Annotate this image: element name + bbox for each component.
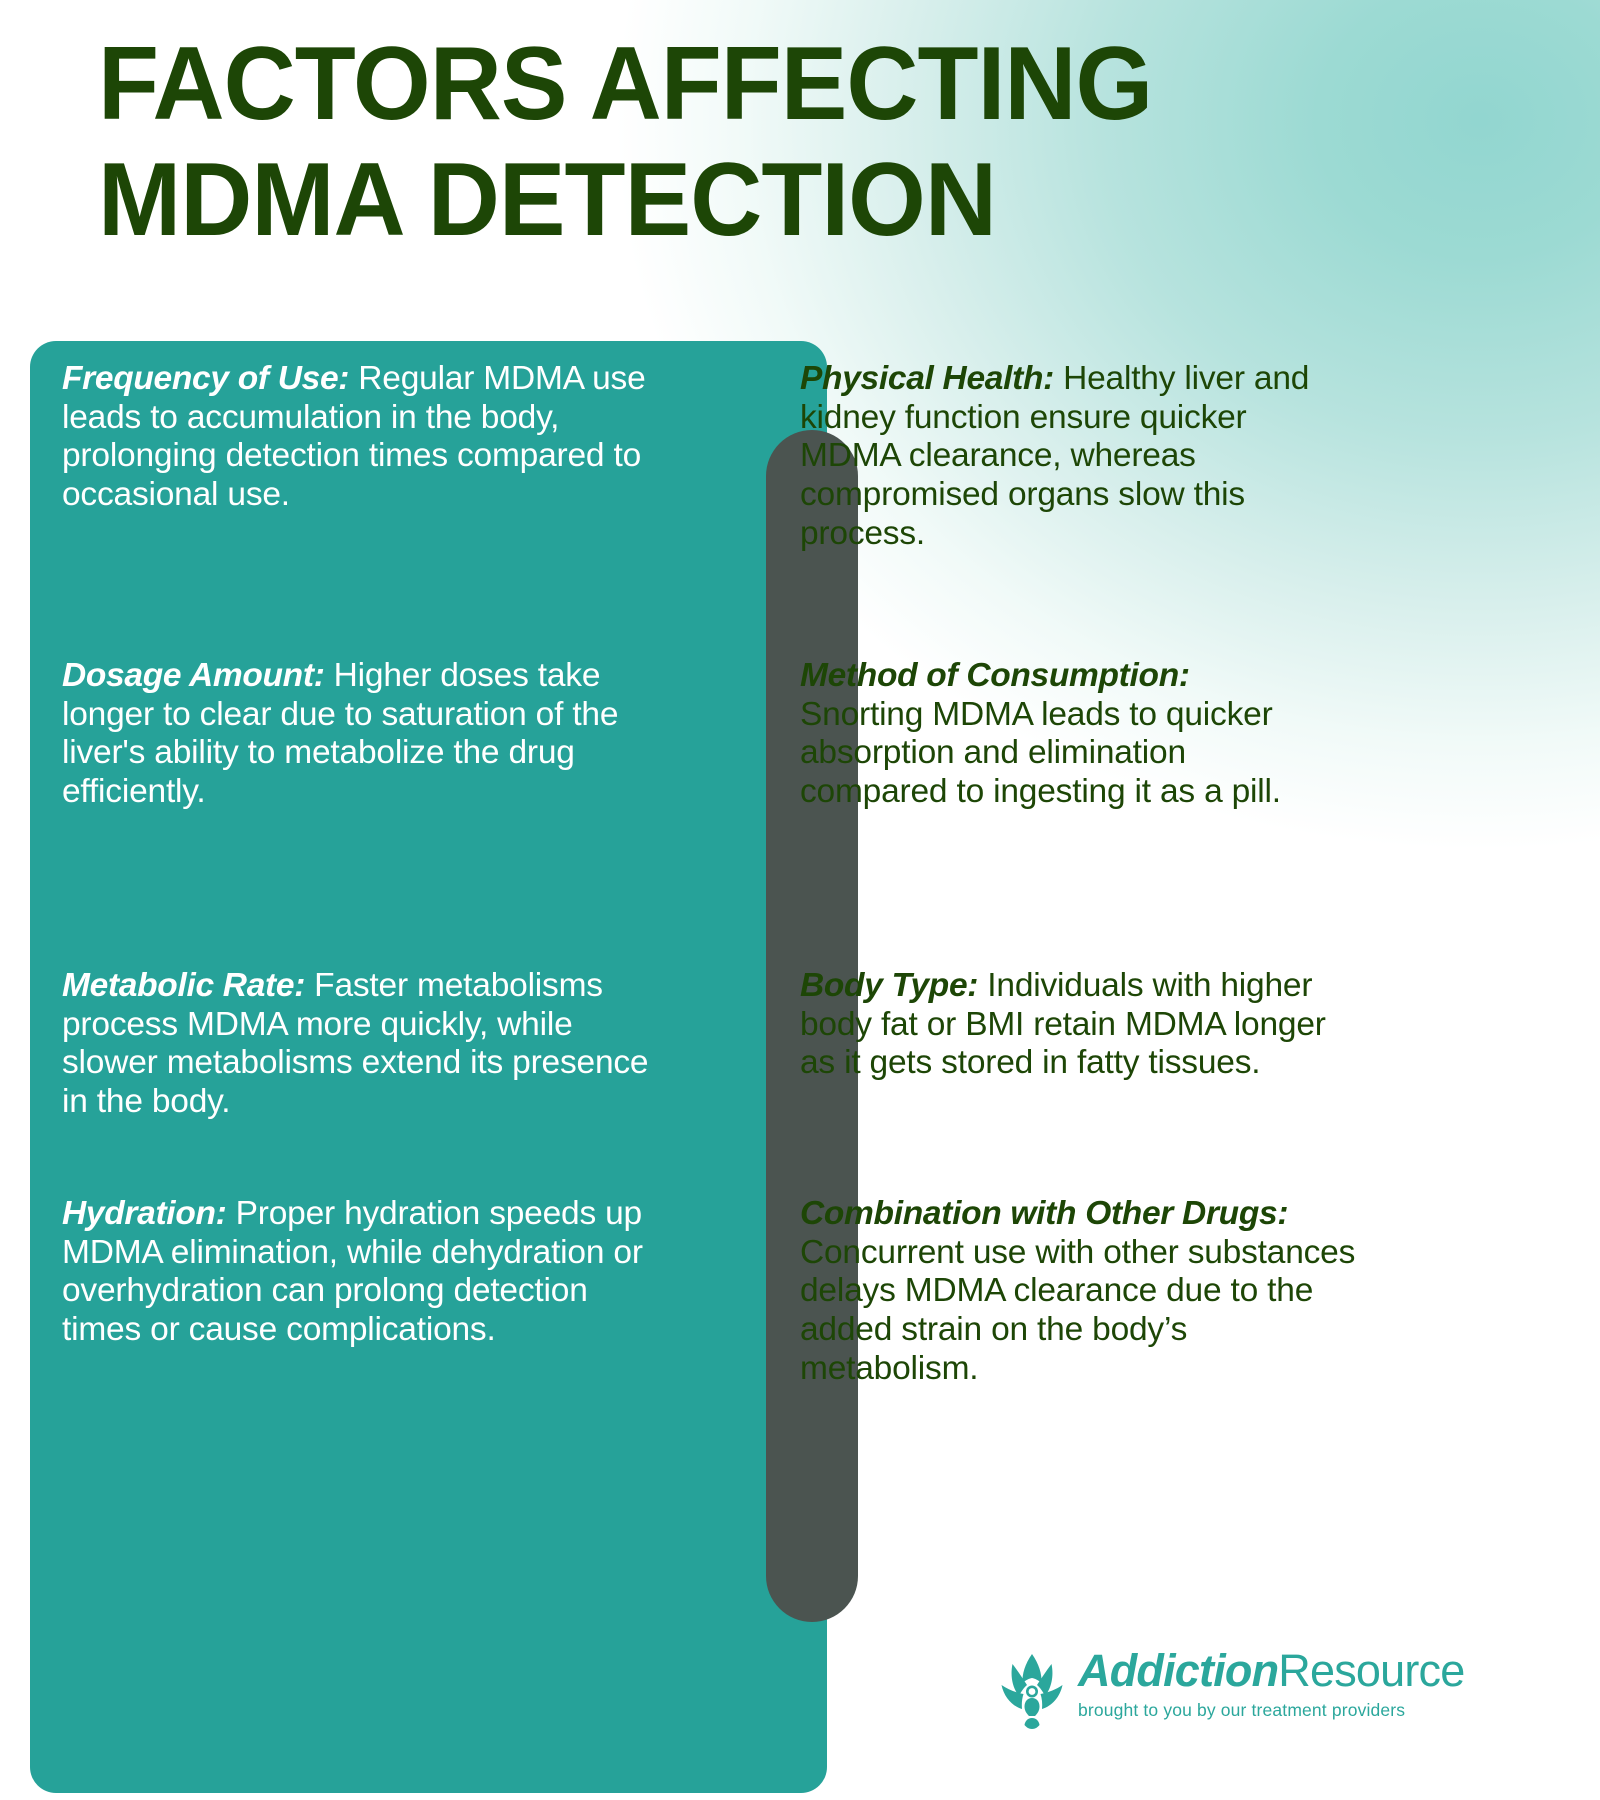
factor-label: Body Type: bbox=[800, 967, 978, 1004]
factor-text: Snorting MDMA leads to quicker absorptio… bbox=[800, 696, 1281, 810]
factor-label: Metabolic Rate: bbox=[62, 967, 305, 1004]
factor-label: Method of Consumption: bbox=[800, 657, 1190, 694]
logo-tagline: brought to you by our treatment provider… bbox=[1078, 1700, 1464, 1721]
factor-text: Concurrent use with other substances del… bbox=[800, 1234, 1355, 1387]
logo-text-block: AddictionResource brought to you by our … bbox=[1078, 1648, 1464, 1721]
factor-body-type: Body Type: Individuals with higher body … bbox=[800, 967, 1360, 1083]
logo-brand-regular: Resource bbox=[1278, 1645, 1464, 1696]
infographic-canvas: FACTORS AFFECTING MDMA DETECTION Frequen… bbox=[0, 0, 1600, 1800]
factor-combination-with-other-drugs: Combination with Other Drugs: Concurrent… bbox=[800, 1195, 1370, 1388]
logo-brand-bold: Addiction bbox=[1078, 1645, 1278, 1696]
factor-method-of-consumption: Method of Consumption: Snorting MDMA lea… bbox=[800, 657, 1320, 812]
factor-label: Frequency of Use: bbox=[62, 360, 349, 397]
factor-dosage-amount: Dosage Amount: Higher doses take longer … bbox=[62, 657, 652, 812]
factor-hydration: Hydration: Proper hydration speeds up MD… bbox=[62, 1195, 652, 1350]
factor-label: Physical Health: bbox=[800, 360, 1054, 397]
factor-metabolic-rate: Metabolic Rate: Faster metabolisms proce… bbox=[62, 967, 652, 1122]
factor-frequency-of-use: Frequency of Use: Regular MDMA use leads… bbox=[62, 360, 652, 515]
logo-wordmark: AddictionResource bbox=[1078, 1648, 1464, 1693]
factor-physical-health: Physical Health: Healthy liver and kidne… bbox=[800, 360, 1345, 553]
page-title: FACTORS AFFECTING MDMA DETECTION bbox=[98, 26, 1212, 259]
factor-label: Dosage Amount: bbox=[62, 657, 325, 694]
factor-label: Combination with Other Drugs: bbox=[800, 1195, 1288, 1232]
brand-logo[interactable]: AddictionResource brought to you by our … bbox=[1000, 1648, 1464, 1730]
factor-label: Hydration: bbox=[62, 1195, 227, 1232]
lotus-person-icon bbox=[1000, 1652, 1064, 1730]
